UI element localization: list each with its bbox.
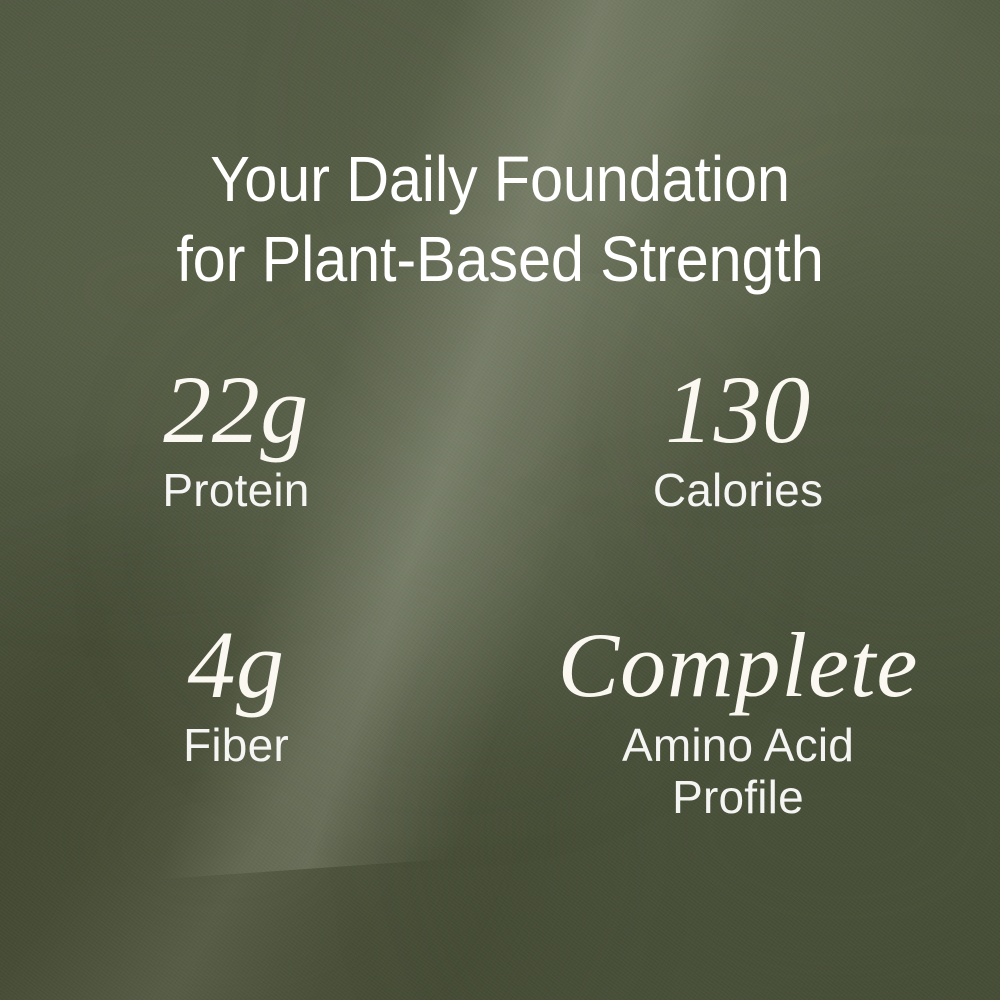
nutrition-stats-grid: 22g Protein 130 Calories 4g Fiber Comple… bbox=[24, 360, 976, 823]
stat-calories-label-line-1: Calories bbox=[500, 464, 976, 516]
stat-protein-label: Protein bbox=[24, 464, 448, 516]
stat-fiber-label-line-1: Fiber bbox=[24, 719, 448, 771]
stat-protein-value: 22g bbox=[24, 360, 448, 460]
nutrition-poster: Your Daily Foundation for Plant-Based St… bbox=[0, 0, 1000, 1000]
stat-protein-label-line-1: Protein bbox=[24, 464, 448, 516]
stat-amino-acid-label-line-1: Amino Acid bbox=[500, 719, 976, 771]
page-title-line-1: Your Daily Foundation bbox=[35, 139, 965, 219]
stat-calories-value: 130 bbox=[500, 360, 976, 460]
page-title-line-2: for Plant-Based Strength bbox=[35, 219, 965, 299]
page-title: Your Daily Foundation for Plant-Based St… bbox=[35, 139, 965, 299]
stat-amino-acid-label: Amino Acid Profile bbox=[500, 719, 976, 823]
poster-content: Your Daily Foundation for Plant-Based St… bbox=[0, 0, 1000, 1000]
stat-amino-acid-profile: Complete Amino Acid Profile bbox=[500, 615, 976, 823]
stat-fiber: 4g Fiber bbox=[24, 615, 500, 823]
stat-protein: 22g Protein bbox=[24, 360, 500, 615]
stat-fiber-value: 4g bbox=[24, 615, 448, 715]
stat-calories: 130 Calories bbox=[500, 360, 976, 615]
stat-amino-acid-value: Complete bbox=[500, 615, 976, 715]
stat-amino-acid-label-line-2: Profile bbox=[500, 771, 976, 823]
stat-fiber-label: Fiber bbox=[24, 719, 448, 771]
stat-calories-label: Calories bbox=[500, 464, 976, 516]
